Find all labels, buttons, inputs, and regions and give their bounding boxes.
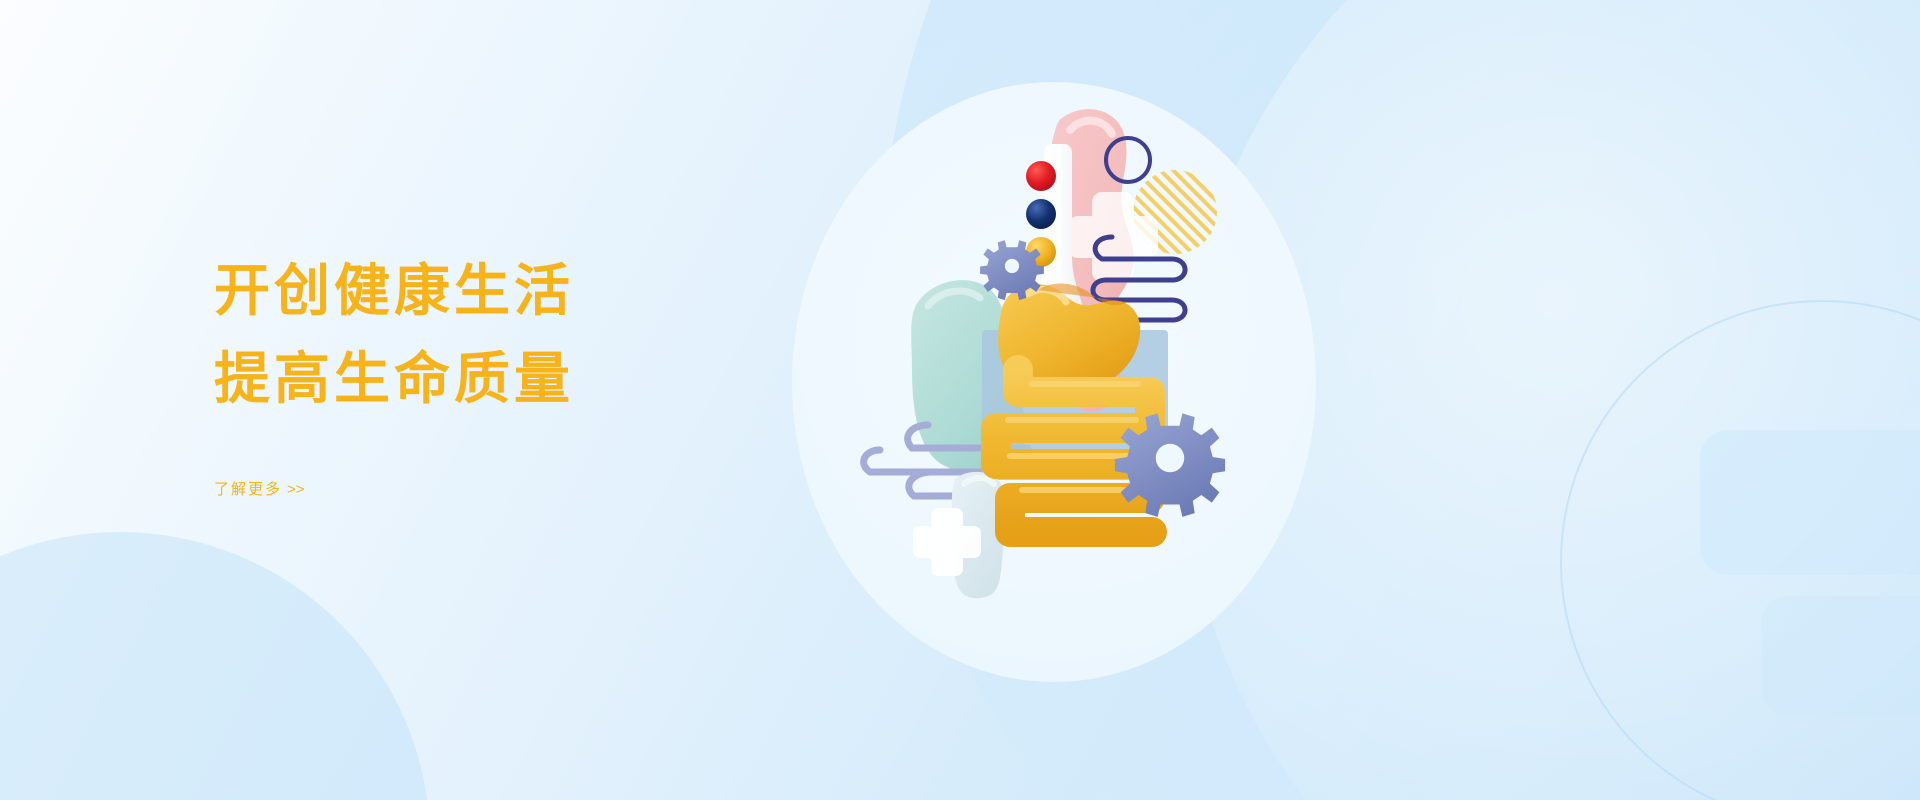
background-rounded-rect-lower: [1762, 596, 1920, 716]
headline-line-1: 开创健康生活: [214, 248, 854, 334]
headline-line-2: 提高生命质量: [214, 336, 854, 422]
pill-navy: [1026, 199, 1056, 229]
illustration-svg: [760, 40, 1460, 760]
learn-more-link[interactable]: 了解更多>>: [214, 478, 305, 499]
pill-red: [1026, 161, 1056, 191]
hero-banner: 开创健康生活 提高生命质量 了解更多>>: [0, 0, 1920, 800]
learn-more-label: 了解更多: [214, 481, 282, 498]
background-blob-bottom-left: [0, 532, 430, 800]
chevron-right-icon: >>: [287, 481, 305, 498]
hero-copy: 开创健康生活 提高生命质量 了解更多>>: [214, 248, 854, 499]
digestive-illustration: [760, 40, 1460, 760]
intestine-coil: [996, 370, 1152, 532]
background-rounded-rect-upper: [1700, 430, 1920, 575]
